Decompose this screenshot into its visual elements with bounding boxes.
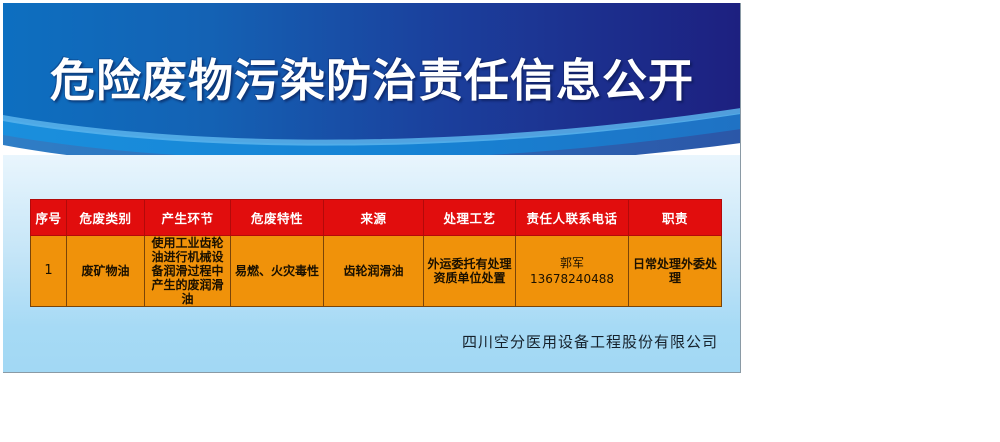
cell-category: 废矿物油 [67,236,145,307]
column-header-contact: 责任人联系电话 [516,200,629,236]
cell-stage: 使用工业齿轮油进行机械设备润滑过程中产生的废润滑油 [145,236,231,307]
company-name: 四川空分医用设备工程股份有限公司 [3,331,718,352]
column-header-process: 处理工艺 [424,200,516,236]
table-header-row: 序号 危废类别 产生环节 危废特性 来源 处理工艺 责任人联系电话 职责 [31,200,722,236]
contact-person-name: 郭军 [518,255,626,271]
cell-duty: 日常处理外委处理 [629,236,722,307]
cell-serial: 1 [31,236,67,307]
poster-banner: 危险废物污染防治责任信息公开 [3,3,741,155]
column-header-source: 来源 [324,200,424,236]
column-header-stage: 产生环节 [145,200,231,236]
table-row: 1 废矿物油 使用工业齿轮油进行机械设备润滑过程中产生的废润滑油 易燃、火灾毒性… [31,236,722,307]
page-title: 危险废物污染防治责任信息公开 [3,53,741,109]
contact-phone-number: 13678240488 [518,271,626,287]
cell-contact: 郭军 13678240488 [516,236,629,307]
column-header-category: 危废类别 [67,200,145,236]
cell-process: 外运委托有处理资质单位处置 [424,236,516,307]
cell-property: 易燃、火灾毒性 [231,236,324,307]
column-header-duty: 职责 [629,200,722,236]
hazardous-waste-table: 序号 危废类别 产生环节 危废特性 来源 处理工艺 责任人联系电话 职责 1 废… [30,199,722,307]
column-header-serial: 序号 [31,200,67,236]
information-disclosure-poster: 危险废物污染防治责任信息公开 序号 危废类别 产生环节 危废特性 来源 处理工艺… [3,3,741,373]
column-header-property: 危废特性 [231,200,324,236]
cell-source: 齿轮润滑油 [324,236,424,307]
